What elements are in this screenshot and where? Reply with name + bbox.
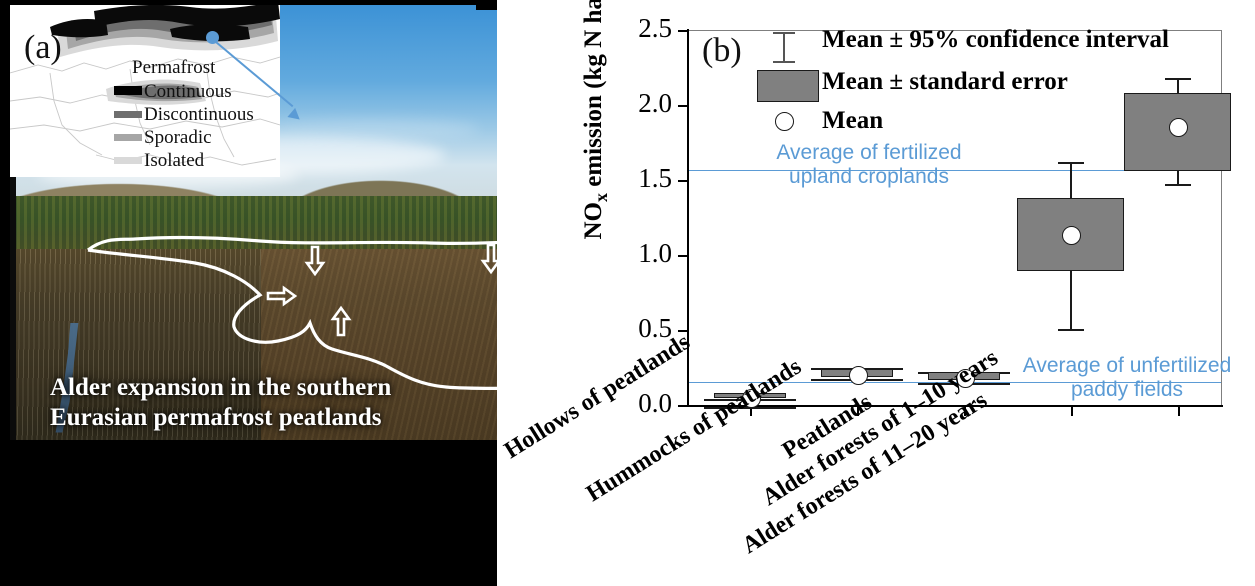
permafrost-isolated-swatch	[114, 157, 142, 164]
whisker-line	[1177, 171, 1179, 185]
y-tick	[678, 405, 687, 407]
reference-label-fertilized: Average of fertilized upland croplands	[749, 141, 989, 188]
map-legend-label: Sporadic	[144, 127, 212, 148]
legend-ci-line	[783, 32, 785, 62]
background-fill	[0, 440, 497, 586]
y-tick-label: 2.5	[602, 13, 672, 44]
whisker-line	[1070, 271, 1072, 330]
conifer-forest	[10, 196, 555, 253]
permafrost-sporadic-swatch	[114, 134, 142, 141]
map-legend-item-continuous: Continuous	[114, 81, 232, 103]
y-tick-label: 1.0	[602, 238, 672, 269]
whisker-cap-lower	[1058, 329, 1084, 331]
y-tick	[678, 30, 687, 32]
photo-caption: Alder expansion in the southern Eurasian…	[50, 373, 391, 432]
background-fill	[476, 0, 497, 10]
figure-root: Alder expansion in the southern Eurasian…	[0, 0, 1255, 586]
legend-se-box	[757, 70, 819, 102]
whisker-cap-lower	[1165, 184, 1191, 186]
panel-b-label: (b)	[702, 32, 742, 70]
map-legend-label: Isolated	[144, 150, 204, 171]
permafrost-discontinuous-swatch	[114, 111, 142, 118]
map-legend-item-discontinuous: Discontinuous	[114, 104, 254, 126]
map-legend-label: Continuous	[144, 81, 232, 102]
panel-a-label: (a)	[24, 29, 62, 67]
legend-mean-marker	[775, 112, 794, 131]
x-tick	[1071, 407, 1073, 416]
inset-permafrost-map: (a) Permafrost Continuous Discontinuous …	[10, 5, 280, 177]
photo-caption-line-2: Eurasian permafrost peatlands	[50, 403, 391, 433]
x-tick	[1178, 407, 1180, 416]
legend-label-se: Mean ± standard error	[822, 68, 1068, 96]
y-tick-label: 1.5	[602, 163, 672, 194]
mean-marker-hummocks-of-peatlands	[849, 366, 868, 385]
map-legend-label: Discontinuous	[144, 104, 254, 125]
legend-label-mean: Mean	[822, 107, 883, 135]
legend-ci-bottom-cap	[773, 61, 795, 63]
map-legend-title: Permafrost	[132, 57, 215, 79]
permafrost-continuous-swatch	[114, 86, 142, 95]
y-tick	[678, 255, 687, 257]
y-tick	[678, 105, 687, 107]
mean-marker-alder-forests-11-20-years	[1169, 118, 1188, 137]
y-tick-label: 2.0	[602, 88, 672, 119]
photo-caption-line-1: Alder expansion in the southern	[50, 373, 391, 403]
whisker-line	[1177, 78, 1179, 93]
legend-label-ci: Mean ± 95% confidence interval	[822, 26, 1169, 54]
mean-marker-alder-forests-1-10-years	[1062, 226, 1081, 245]
map-legend-item-isolated: Isolated	[114, 150, 204, 172]
map-legend-item-sporadic: Sporadic	[114, 127, 212, 149]
y-tick	[678, 180, 687, 182]
panel-b-chart: NOx emission (kg N ha−1 year−1) 0.0 0.5 …	[497, 0, 1255, 586]
y-tick-label: 0.5	[602, 313, 672, 344]
reference-label-unfertilized: Average of unfertilized paddy fields	[1002, 354, 1252, 401]
